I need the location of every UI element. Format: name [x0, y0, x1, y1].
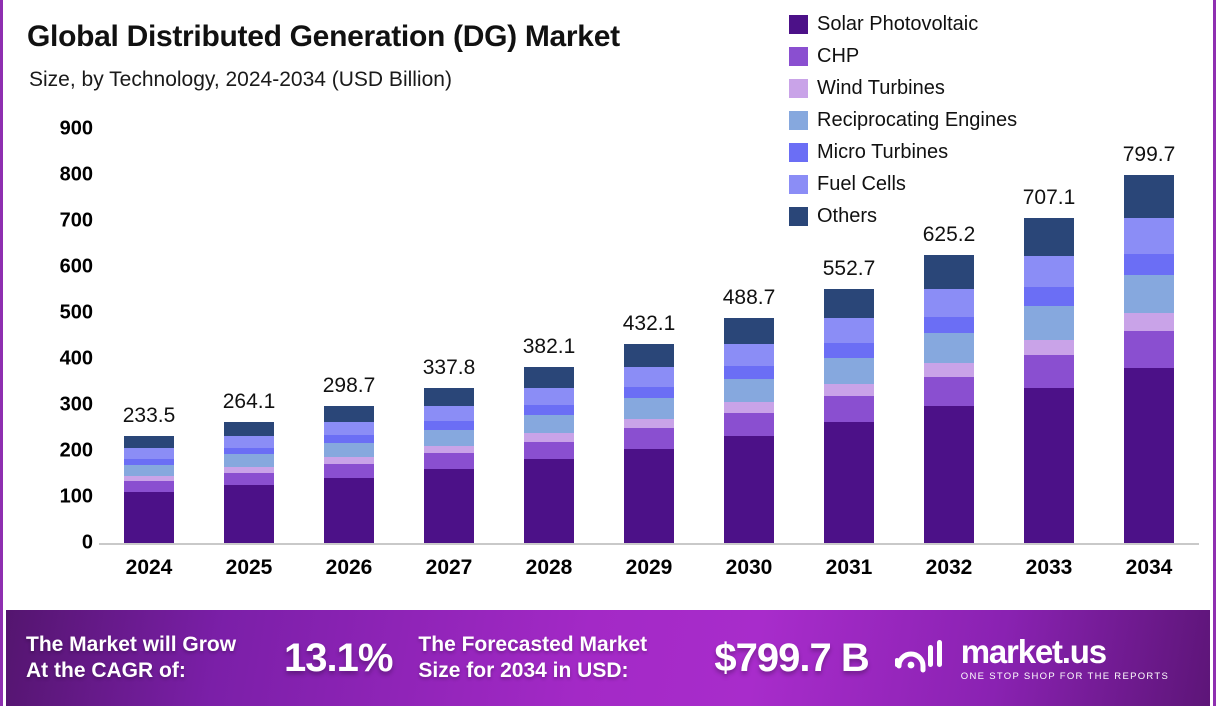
bar-segment[interactable] [1124, 313, 1174, 331]
bar-total-label: 432.1 [579, 312, 719, 336]
bar-segment[interactable] [824, 396, 874, 422]
y-axis-tick-label: 600 [23, 256, 93, 279]
bar-segment[interactable] [1124, 331, 1174, 369]
y-axis-tick-label: 800 [23, 164, 93, 187]
bar-segment[interactable] [224, 436, 274, 448]
bar-group[interactable]: 298.7 [324, 100, 374, 543]
bar-segment[interactable] [824, 358, 874, 384]
bar-segment[interactable] [524, 415, 574, 433]
chart-page: Global Distributed Generation (DG) Marke… [0, 0, 1216, 706]
bar-segment[interactable] [624, 428, 674, 448]
bar-segment[interactable] [624, 398, 674, 419]
forecast-size-value: $799.7 B [714, 636, 868, 681]
bar-stack [824, 289, 874, 543]
bar-segment[interactable] [524, 442, 574, 460]
bar-segment[interactable] [324, 443, 374, 457]
y-axis-tick-label: 500 [23, 302, 93, 325]
bar-segment[interactable] [624, 387, 674, 398]
bar-segment[interactable] [224, 422, 274, 436]
logo-text-block: market.us ONE STOP SHOP FOR THE REPORTS [961, 635, 1169, 682]
bar-segment[interactable] [124, 492, 174, 543]
market-us-logo: market.us ONE STOP SHOP FOR THE REPORTS [895, 635, 1169, 682]
bar-segment[interactable] [1024, 287, 1074, 306]
logo-tagline: ONE STOP SHOP FOR THE REPORTS [961, 671, 1169, 682]
bar-group[interactable]: 625.2 [924, 100, 974, 543]
bar-stack [424, 388, 474, 543]
bar-segment[interactable] [824, 422, 874, 543]
bar-stack [624, 344, 674, 543]
bar-segment[interactable] [624, 367, 674, 386]
bar-group[interactable]: 382.1 [524, 100, 574, 543]
bar-segment[interactable] [724, 413, 774, 436]
bar-group[interactable]: 264.1 [224, 100, 274, 543]
bar-stack [524, 367, 574, 543]
cagr-value: 13.1% [284, 636, 392, 681]
y-axis: 0100200300400500600700800900 [15, 0, 93, 600]
bar-stack [124, 436, 174, 543]
y-axis-tick-label: 400 [23, 348, 93, 371]
chart-plot-area: 0100200300400500600700800900 233.5264.12… [3, 0, 1216, 600]
bar-segment[interactable] [224, 485, 274, 543]
y-axis-tick-label: 100 [23, 486, 93, 509]
bar-segment[interactable] [824, 384, 874, 396]
bar-segment[interactable] [524, 459, 574, 543]
bar-segment[interactable] [924, 333, 974, 363]
bar-total-label: 488.7 [679, 286, 819, 310]
bar-segment[interactable] [1124, 368, 1174, 543]
bar-segment[interactable] [624, 419, 674, 429]
bar-segment[interactable] [724, 436, 774, 543]
forecast-size-label: The Forecasted MarketSize for 2034 in US… [418, 632, 714, 683]
bar-segment[interactable] [224, 448, 274, 455]
bar-segment[interactable] [724, 344, 774, 366]
bar-segment[interactable] [424, 446, 474, 453]
bar-segment[interactable] [424, 469, 474, 543]
bar-segment[interactable] [524, 388, 574, 405]
bar-segment[interactable] [1024, 340, 1074, 356]
y-axis-tick-label: 200 [23, 440, 93, 463]
bar-segment[interactable] [824, 318, 874, 343]
bar-stack [1024, 218, 1074, 543]
bar-segment[interactable] [1124, 175, 1174, 218]
bar-stack [324, 406, 374, 543]
footer-banner: The Market will GrowAt the CAGR of: 13.1… [6, 610, 1210, 706]
bar-segment[interactable] [824, 343, 874, 357]
bar-series-container: 233.5264.1298.7337.8382.1432.1488.7552.7… [99, 100, 1199, 543]
bar-segment[interactable] [524, 367, 574, 387]
bar-total-label: 382.1 [479, 335, 619, 359]
bar-segment[interactable] [524, 433, 574, 441]
bar-segment[interactable] [324, 435, 374, 443]
bar-segment[interactable] [1024, 355, 1074, 388]
bar-segment[interactable] [1124, 254, 1174, 275]
market-us-logo-icon [895, 636, 951, 681]
bar-group[interactable]: 799.7 [1124, 100, 1174, 543]
bar-segment[interactable] [124, 436, 174, 449]
bar-segment[interactable] [424, 421, 474, 430]
bar-group[interactable]: 707.1 [1024, 100, 1074, 543]
bar-segment[interactable] [724, 402, 774, 413]
x-axis-tick-label: 2034 [1079, 556, 1216, 580]
bar-group[interactable]: 552.7 [824, 100, 874, 543]
logo-name: market.us [961, 635, 1169, 668]
x-axis-line [99, 543, 1199, 545]
y-axis-tick-label: 700 [23, 210, 93, 233]
bar-segment[interactable] [924, 406, 974, 543]
bar-segment[interactable] [1024, 218, 1074, 256]
bar-segment[interactable] [424, 453, 474, 469]
bar-group[interactable]: 337.8 [424, 100, 474, 543]
y-axis-tick-label: 0 [23, 532, 93, 555]
bar-segment[interactable] [1024, 306, 1074, 340]
bar-group[interactable]: 488.7 [724, 100, 774, 543]
bar-segment[interactable] [124, 481, 174, 492]
bar-total-label: 625.2 [879, 223, 1019, 247]
bar-segment[interactable] [424, 388, 474, 406]
bar-segment[interactable] [224, 473, 274, 485]
bar-segment[interactable] [1124, 218, 1174, 254]
bar-total-label: 552.7 [779, 257, 919, 281]
bar-segment[interactable] [924, 317, 974, 333]
bar-segment[interactable] [424, 406, 474, 421]
bar-segment[interactable] [624, 449, 674, 543]
bar-segment[interactable] [524, 405, 574, 415]
bar-segment[interactable] [1124, 275, 1174, 313]
bar-segment[interactable] [924, 363, 974, 377]
cagr-label: The Market will GrowAt the CAGR of: [26, 632, 284, 683]
bar-segment[interactable] [324, 464, 374, 478]
bar-segment[interactable] [324, 406, 374, 422]
bar-stack [224, 422, 274, 543]
bar-segment[interactable] [924, 289, 974, 317]
bar-segment[interactable] [124, 465, 174, 476]
bar-group[interactable]: 432.1 [624, 100, 674, 543]
bar-segment[interactable] [924, 377, 974, 406]
bar-segment[interactable] [324, 478, 374, 543]
bar-group[interactable]: 233.5 [124, 100, 174, 543]
bar-segment[interactable] [1024, 388, 1074, 543]
bar-segment[interactable] [724, 366, 774, 379]
bar-segment[interactable] [124, 448, 174, 458]
bar-segment[interactable] [724, 318, 774, 344]
bar-segment[interactable] [624, 344, 674, 367]
bar-stack [724, 318, 774, 543]
bar-stack [924, 255, 974, 543]
bar-segment[interactable] [324, 422, 374, 435]
bar-segment[interactable] [424, 430, 474, 446]
bar-segment[interactable] [924, 255, 974, 288]
bar-segment[interactable] [224, 454, 274, 467]
bar-stack [1124, 175, 1174, 543]
bar-segment[interactable] [1024, 256, 1074, 288]
y-axis-tick-label: 900 [23, 118, 93, 141]
bar-segment[interactable] [724, 379, 774, 402]
bar-total-label: 799.7 [1079, 143, 1216, 167]
bar-total-label: 707.1 [979, 186, 1119, 210]
bar-segment[interactable] [824, 289, 874, 319]
